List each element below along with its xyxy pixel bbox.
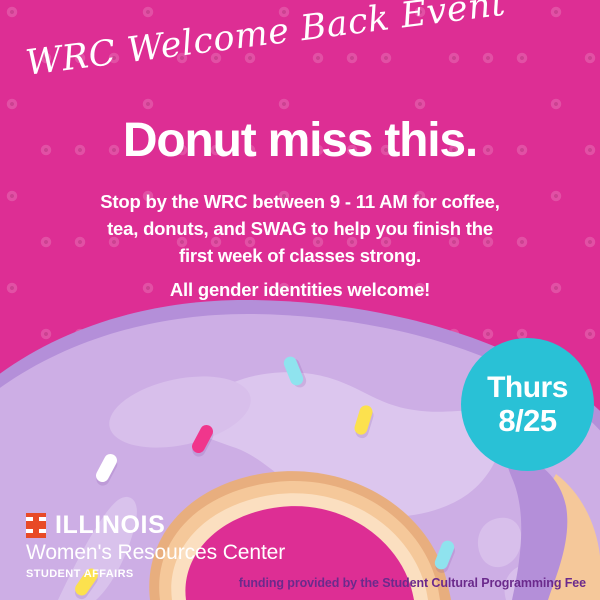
date-badge-date: 8/25	[498, 405, 556, 436]
illinois-wrc-logo-lockup: ILLINOIS Women's Resources Center STUDEN…	[26, 512, 286, 580]
date-badge: Thurs 8/25	[461, 338, 594, 471]
date-badge-day: Thurs	[487, 373, 568, 403]
headline: Donut miss this.	[0, 116, 600, 166]
illinois-wordmark: ILLINOIS	[55, 513, 165, 538]
illinois-wordmark-row: ILLINOIS	[26, 512, 286, 538]
block-i-stem	[33, 513, 39, 538]
promotional-poster: WRC Welcome Back Event Donut miss this. …	[0, 0, 600, 600]
unit-name: Women's Resources Center	[26, 541, 286, 565]
inclusivity-statement: All gender identities welcome!	[95, 277, 505, 303]
illinois-block-i-icon	[26, 513, 46, 538]
funding-note: funding provided by the Student Cultural…	[239, 577, 586, 590]
body-copy: Stop by the WRC between 9 - 11 AM for co…	[95, 189, 505, 269]
